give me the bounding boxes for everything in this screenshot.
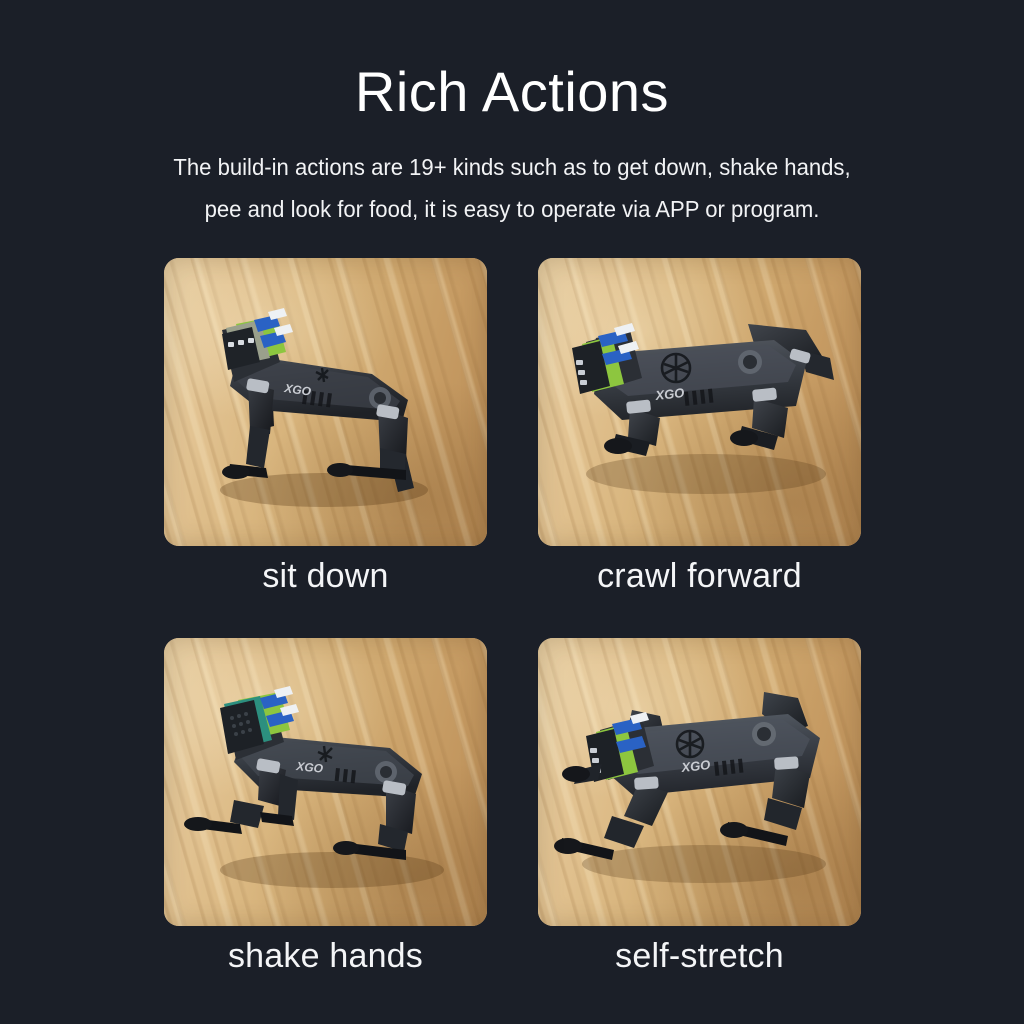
action-card-crawl-forward[interactable]: XGO	[538, 258, 861, 546]
svg-text:XGO: XGO	[680, 757, 711, 775]
svg-text:XGO: XGO	[295, 759, 325, 776]
action-caption-crawl-forward: crawl forward	[512, 554, 887, 598]
action-photo-crawl-forward: XGO	[538, 258, 861, 546]
action-photo-self-stretch: XGO	[538, 638, 861, 926]
action-grid: XGO	[164, 258, 861, 980]
action-card-sit-down[interactable]: XGO	[164, 258, 487, 546]
page-title: Rich Actions	[0, 62, 1024, 122]
action-caption-sit-down: sit down	[138, 554, 513, 598]
robot-dog-illustration-shake-hands: XGO	[164, 638, 487, 926]
svg-text:XGO: XGO	[654, 385, 685, 403]
rich-actions-page: Rich Actions The build-in actions are 19…	[0, 0, 1024, 1024]
action-photo-sit-down: XGO	[164, 258, 487, 546]
robot-dog-illustration-crawl-forward: XGO	[538, 258, 861, 546]
action-caption-shake-hands: shake hands	[138, 934, 513, 978]
action-card-self-stretch[interactable]: XGO	[538, 638, 861, 926]
action-photo-shake-hands: XGO	[164, 638, 487, 926]
robot-dog-illustration-self-stretch: XGO	[538, 638, 861, 926]
action-caption-self-stretch: self-stretch	[512, 934, 887, 978]
robot-dog-illustration-sit-down: XGO	[164, 258, 487, 546]
page-subtitle: The build-in actions are 19+ kinds such …	[89, 146, 935, 230]
action-card-shake-hands[interactable]: XGO	[164, 638, 487, 926]
